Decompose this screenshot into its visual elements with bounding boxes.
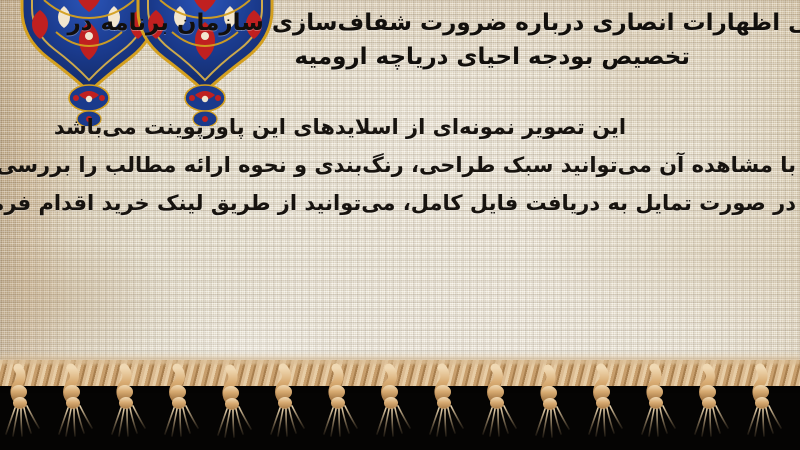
slide-body: این تصویر نمونه‌ای از اسلایدهای این پاور… bbox=[0, 108, 800, 222]
body-line-2: با مشاهده آن می‌توانید سبک طراحی، رنگ‌بن… bbox=[0, 146, 800, 184]
carpet-fringe-band bbox=[0, 352, 800, 450]
slide-text-layer: سی اظهارات انصاری درباره ضرورت شفاف‌سازی… bbox=[0, 0, 800, 380]
slide-canvas: سی اظهارات انصاری درباره ضرورت شفاف‌سازی… bbox=[0, 0, 800, 450]
title-line-2: تخصیص بودجه احیای دریاچه ارومیه bbox=[0, 40, 690, 74]
slide-title: سی اظهارات انصاری درباره ضرورت شفاف‌سازی… bbox=[0, 6, 800, 74]
title-line-1: سی اظهارات انصاری درباره ضرورت شفاف‌سازی… bbox=[0, 6, 800, 40]
fringe-tassels-icon bbox=[0, 352, 800, 450]
body-line-3: در صورت تمایل به دریافت فایل کامل، می‌تو… bbox=[0, 184, 800, 222]
body-line-1: این تصویر نمونه‌ای از اسلایدهای این پاور… bbox=[0, 108, 800, 146]
